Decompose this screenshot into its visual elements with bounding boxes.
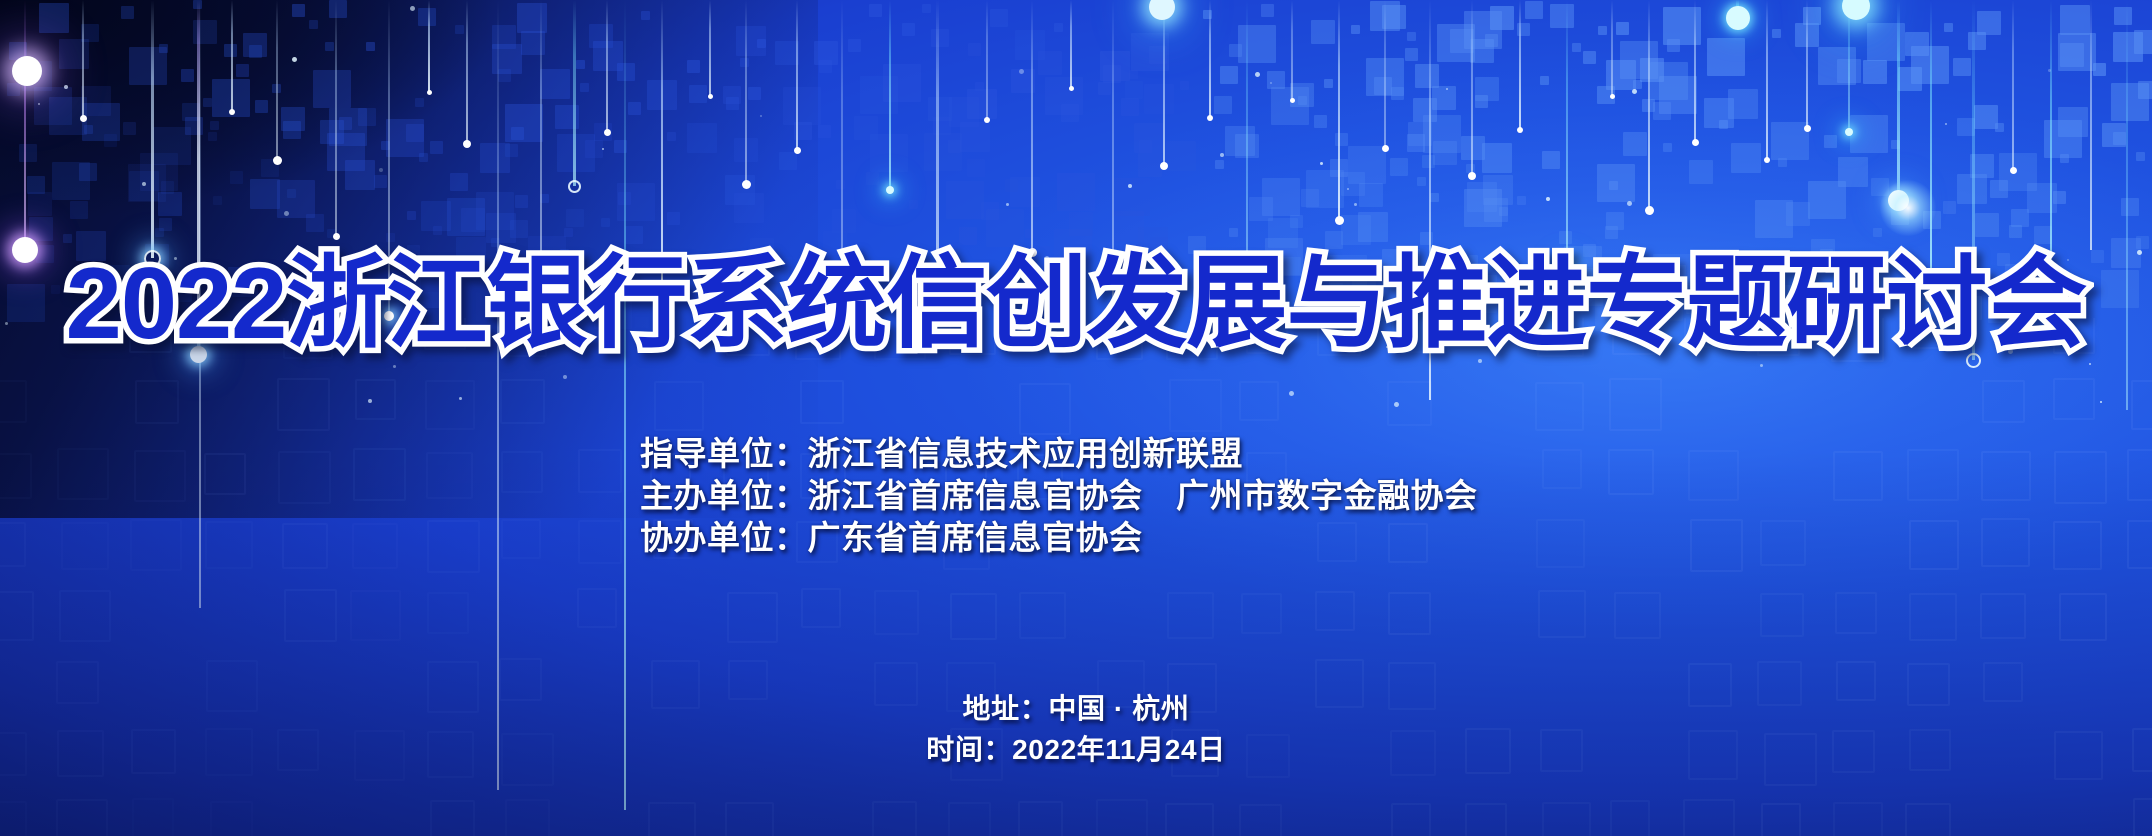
organizer-line-guidance: 指导单位：浙江省信息技术应用创新联盟 [640,433,1478,475]
page-title: 2022浙江银行系统信创发展与推进专题研讨会 [0,254,2152,355]
event-meta: 地址：中国 · 杭州 时间：2022年11月24日 [0,688,2152,770]
organizer-line-coorganizer: 协办单位：广东省首席信息官协会 [640,517,1478,559]
banner-content: 2022浙江银行系统信创发展与推进专题研讨会 指导单位：浙江省信息技术应用创新联… [0,0,2152,836]
organizer-list: 指导单位：浙江省信息技术应用创新联盟 主办单位：浙江省首席信息官协会 广州市数字… [640,433,1478,559]
conference-banner: 2022浙江银行系统信创发展与推进专题研讨会 指导单位：浙江省信息技术应用创新联… [0,0,2152,836]
event-date: 时间：2022年11月24日 [0,729,2152,770]
event-location: 地址：中国 · 杭州 [0,688,2152,729]
organizer-line-host: 主办单位：浙江省首席信息官协会 广州市数字金融协会 [640,475,1478,517]
